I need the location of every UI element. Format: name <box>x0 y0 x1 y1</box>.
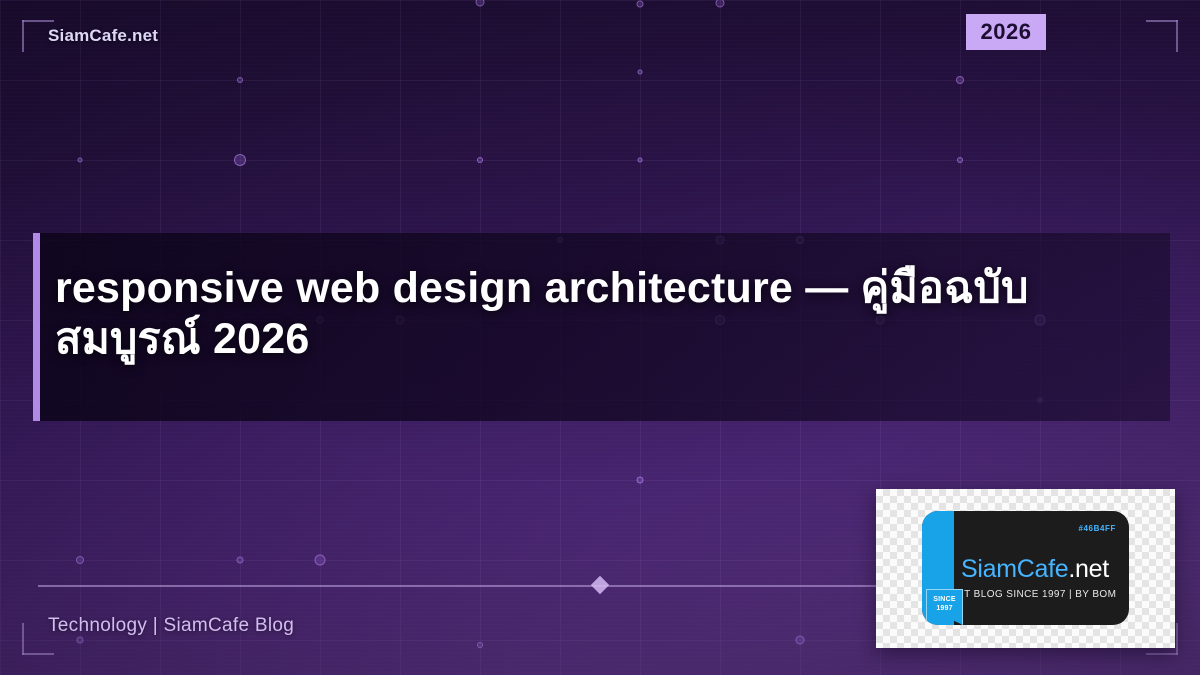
footer-separator <box>38 585 876 587</box>
separator-diamond-marker <box>591 576 609 594</box>
logo-badge: #46B4FF SiamCafe.net IT BLOG SINCE 1997 … <box>922 511 1129 625</box>
node-dot <box>638 158 643 163</box>
node-dot <box>477 157 483 163</box>
node-dot <box>78 158 83 163</box>
cover-canvas: SiamCafe.net 2026 responsive web design … <box>0 0 1200 675</box>
logo-wordmark-primary: SiamCafe <box>961 555 1068 583</box>
since-ribbon-line1: SINCE <box>927 596 962 605</box>
node-dot <box>716 0 725 8</box>
node-dot <box>957 157 963 163</box>
logo-card: #46B4FF SiamCafe.net IT BLOG SINCE 1997 … <box>876 489 1175 648</box>
node-dot <box>76 556 84 564</box>
logo-tagline: IT BLOG SINCE 1997 | BY BOM <box>961 589 1116 600</box>
page-title: responsive web design architecture — คู่… <box>55 263 1145 364</box>
node-dot <box>638 70 643 75</box>
footer-category-label: Technology | SiamCafe Blog <box>48 615 294 637</box>
logo-hex-code: #46B4FF <box>1078 524 1116 533</box>
node-dot <box>637 1 644 8</box>
since-ribbon-line2: 1997 <box>927 605 962 614</box>
node-dot <box>476 0 485 7</box>
corner-bracket-top-right <box>1146 20 1178 52</box>
node-dot <box>234 154 246 166</box>
node-dot <box>956 76 964 84</box>
node-dot <box>77 637 84 644</box>
node-dot <box>315 555 326 566</box>
node-dot <box>237 557 244 564</box>
node-dot <box>796 636 805 645</box>
year-badge: 2026 <box>966 14 1046 50</box>
logo-wordmark: SiamCafe.net <box>961 555 1109 584</box>
site-brand-label: SiamCafe.net <box>48 26 158 46</box>
node-dot <box>637 477 644 484</box>
logo-wordmark-tld: .net <box>1068 555 1109 583</box>
node-dot <box>237 77 243 83</box>
node-dot <box>477 642 483 648</box>
